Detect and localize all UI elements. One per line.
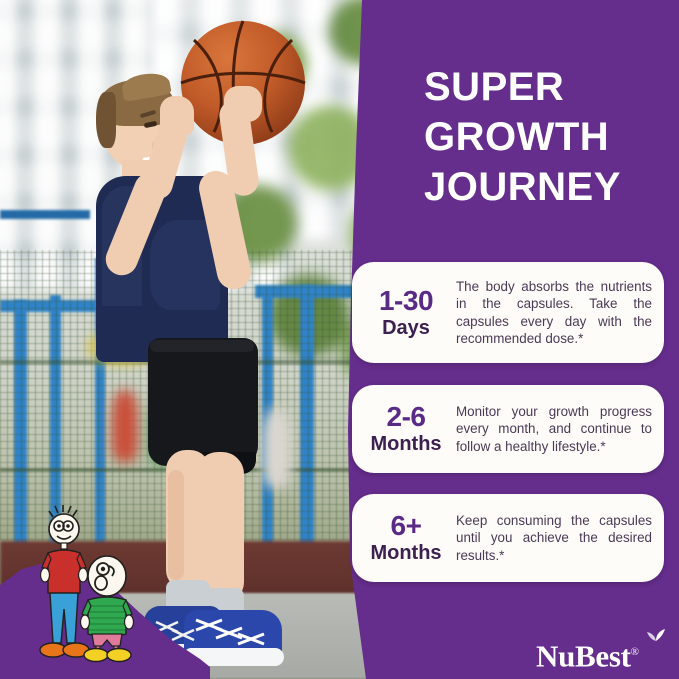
step-3-range: 6+: [356, 511, 456, 541]
step-2-key: 2-6 Months: [352, 402, 456, 456]
registered-trademark: ®: [631, 646, 639, 658]
short-cartoon-boy: [76, 552, 138, 664]
step-card-1[interactable]: 1-30 Days The body absorbs the nutrients…: [352, 262, 664, 363]
step-3-unit: Months: [356, 541, 456, 565]
player-hand-left: [160, 96, 194, 136]
step-3-description: Keep consuming the capsules until you ac…: [456, 512, 664, 565]
step-1-description: The body absorbs the nutrients in the ca…: [456, 278, 664, 348]
step-2-description: Monitor your growth progress every month…: [456, 403, 664, 456]
player-leg-shadow: [168, 470, 184, 580]
page-title: SUPER GROWTH JOURNEY: [424, 62, 674, 212]
step-1-key: 1-30 Days: [352, 286, 456, 340]
step-card-2[interactable]: 2-6 Months Monitor your growth progress …: [352, 385, 664, 473]
poster-canvas: SUPER GROWTH JOURNEY 1-30 Days The body …: [0, 0, 679, 679]
title-line-2: GROWTH: [424, 112, 674, 162]
step-2-range: 2-6: [356, 402, 456, 432]
title-line-3: JOURNEY: [424, 162, 674, 212]
player-shorts: [148, 338, 258, 466]
title-line-1: SUPER: [424, 62, 674, 112]
brand-name: NuBest: [536, 638, 631, 673]
step-3-key: 6+ Months: [352, 511, 456, 565]
step-1-unit: Days: [356, 316, 456, 340]
player-hair-side: [96, 92, 116, 148]
leaf-sprout-icon: [646, 628, 666, 642]
step-2-unit: Months: [356, 432, 456, 456]
step-card-3[interactable]: 6+ Months Keep consuming the capsules un…: [352, 494, 664, 582]
step-1-range: 1-30: [356, 286, 456, 316]
player-hand-right: [224, 86, 262, 122]
player-shorts-waistband: [150, 340, 254, 352]
brand-logo[interactable]: NuBest®: [536, 637, 639, 671]
